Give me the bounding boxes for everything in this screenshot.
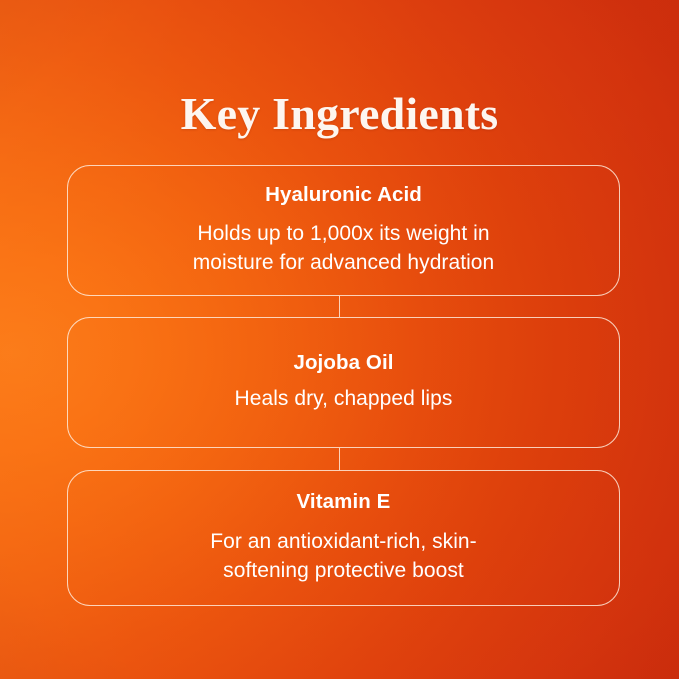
ingredient-name: Hyaluronic Acid	[265, 183, 422, 208]
description-line-1: Holds up to 1,000x its weight in	[197, 222, 489, 245]
description-line-1: Heals dry, chapped lips	[235, 387, 453, 410]
ingredient-card-jojoba-oil: Jojoba Oil Heals dry, chapped lips	[67, 317, 620, 448]
ingredient-card-vitamin-e: Vitamin E For an antioxidant-rich, skin-…	[67, 470, 620, 606]
connector-line-2	[339, 448, 340, 470]
ingredient-description: For an antioxidant-rich, skin- softening…	[210, 528, 476, 586]
ingredient-card-hyaluronic-acid: Hyaluronic Acid Holds up to 1,000x its w…	[67, 165, 620, 296]
ingredient-description: Holds up to 1,000x its weight in moistur…	[193, 220, 495, 278]
page-title: Key Ingredients	[0, 88, 679, 140]
description-line-1: For an antioxidant-rich, skin-	[210, 530, 476, 553]
ingredient-name: Vitamin E	[297, 490, 391, 515]
content-layer: Key Ingredients Hyaluronic Acid Holds up…	[0, 0, 679, 679]
connector-line-1	[339, 296, 340, 317]
description-line-2: moisture for advanced hydration	[193, 251, 495, 274]
ingredients-infographic: Key Ingredients Hyaluronic Acid Holds up…	[0, 0, 679, 679]
ingredient-description: Heals dry, chapped lips	[235, 385, 453, 414]
ingredient-name: Jojoba Oil	[293, 351, 393, 376]
description-line-2: softening protective boost	[223, 559, 464, 582]
